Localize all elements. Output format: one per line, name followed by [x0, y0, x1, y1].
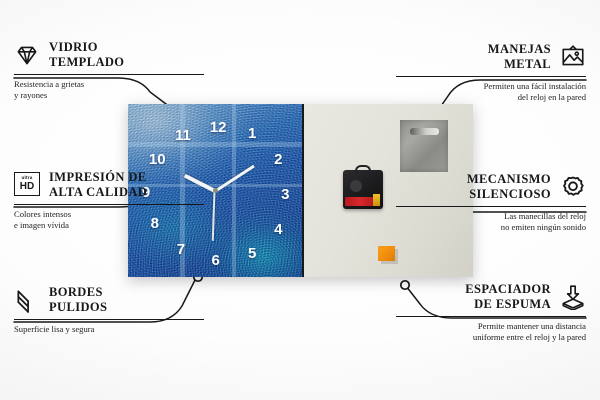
feature-description: Permiten una fácil instalación del reloj…	[396, 81, 586, 104]
clock-numeral: 5	[248, 246, 256, 261]
feature-title: ESPACIADOR DE ESPUMA	[465, 282, 551, 312]
clock-numeral: 6	[212, 253, 220, 268]
feature-silent-mechanism: MECANISMO SILENCIOSO Las manecillas del …	[396, 172, 586, 233]
feature-metal-handles: MANEJAS METAL Permiten una fácil instala…	[396, 42, 586, 103]
feature-description: Las manecillas del reloj no emiten ningú…	[396, 211, 586, 234]
feature-title: MANEJAS METAL	[488, 42, 551, 72]
clock-numeral: 12	[210, 120, 227, 135]
polished-edges-icon	[14, 287, 40, 313]
feature-header: MECANISMO SILENCIOSO	[396, 172, 586, 202]
feature-hd-print: ultraHD IMPRESIÓN DE ALTA CALIDAD Colore…	[14, 170, 204, 231]
divider	[396, 316, 586, 317]
foam-spacer-square	[378, 246, 395, 261]
divider	[396, 206, 586, 207]
diamond-icon	[14, 42, 40, 68]
clock-numeral: 11	[175, 128, 191, 143]
feature-header: ultraHD IMPRESIÓN DE ALTA CALIDAD	[14, 170, 204, 200]
mechanism-loop	[355, 165, 371, 174]
feature-header: ESPACIADOR DE ESPUMA	[396, 282, 586, 312]
feature-header: VIDRIO TEMPLADO	[14, 40, 204, 70]
metal-hanger-plate	[400, 120, 448, 172]
feature-description: Resistencia a grietas y rayones	[14, 79, 204, 102]
feature-header: BORDES PULIDOS	[14, 285, 204, 315]
hanger-slot	[410, 128, 439, 135]
feature-title: MECANISMO SILENCIOSO	[467, 172, 551, 202]
feature-header: MANEJAS METAL	[396, 42, 586, 72]
feature-title: IMPRESIÓN DE ALTA CALIDAD	[49, 170, 147, 200]
divider	[396, 76, 586, 77]
divider	[14, 74, 204, 75]
divider	[14, 204, 204, 205]
ultra-hd-icon: ultraHD	[14, 172, 40, 198]
feature-description: Colores intensos e imagen vívida	[14, 209, 204, 232]
clock-center-hub	[213, 188, 218, 193]
clock-numeral: 3	[281, 187, 289, 202]
feature-foam-spacer: ESPACIADOR DE ESPUMA Permite mantener un…	[396, 282, 586, 343]
mechanism-dial	[350, 180, 362, 192]
feature-title: BORDES PULIDOS	[49, 285, 107, 315]
feature-polished-edges: BORDES PULIDOS Superficie lisa y segura	[14, 285, 204, 335]
clock-numeral: 1	[248, 126, 256, 141]
mechanism-chip	[373, 194, 380, 206]
feature-description: Permite mantener una distancia uniforme …	[396, 321, 586, 344]
clock-numeral: 7	[177, 242, 185, 257]
feature-title: VIDRIO TEMPLADO	[49, 40, 124, 70]
clock-numeral: 10	[149, 152, 166, 167]
layers-arrow-icon	[560, 284, 586, 310]
clock-numeral: 2	[274, 152, 282, 167]
clock-mechanism	[343, 170, 383, 209]
picture-hanger-icon	[560, 44, 586, 70]
divider	[14, 319, 204, 320]
pane-bar	[128, 142, 302, 147]
infographic-canvas: 12 1 2 3 4 5 6 7 8 9 10 11	[0, 0, 600, 400]
clock-numeral: 4	[274, 222, 282, 237]
feature-tempered-glass: VIDRIO TEMPLADO Resistencia a grietas y …	[14, 40, 204, 101]
feature-description: Superficie lisa y segura	[14, 324, 204, 335]
gear-icon	[560, 174, 586, 200]
pane-bar	[232, 104, 236, 277]
